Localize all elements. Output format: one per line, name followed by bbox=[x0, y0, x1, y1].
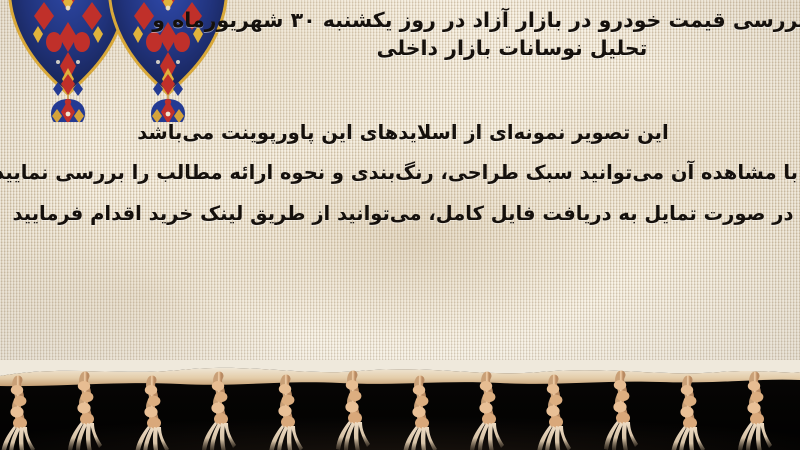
carpet-fringe-tassels bbox=[0, 360, 800, 450]
slide-title-line-2: تحلیل نوسانات بازار داخلی bbox=[218, 34, 800, 62]
text-layer: بررسی قیمت خودرو در بازار آزاد در روز یک… bbox=[0, 0, 800, 379]
slide-title: بررسی قیمت خودرو در بازار آزاد در روز یک… bbox=[218, 6, 800, 63]
slide-canvas: بررسی قیمت خودرو در بازار آزاد در روز یک… bbox=[0, 0, 800, 450]
slide-body-line-2: با مشاهده آن می‌توانید سبک طراحی، رنگ‌بن… bbox=[8, 153, 798, 193]
slide-title-line-1: بررسی قیمت خودرو در بازار آزاد در روز یک… bbox=[152, 8, 800, 32]
slide-body: این تصویر نمونه‌ای از اسلایدهای این پاور… bbox=[8, 113, 798, 234]
slide-body-line-3: در صورت تمایل به دریافت فایل کامل، می‌تو… bbox=[8, 194, 798, 234]
slide-body-line-1: این تصویر نمونه‌ای از اسلایدهای این پاور… bbox=[8, 113, 798, 153]
